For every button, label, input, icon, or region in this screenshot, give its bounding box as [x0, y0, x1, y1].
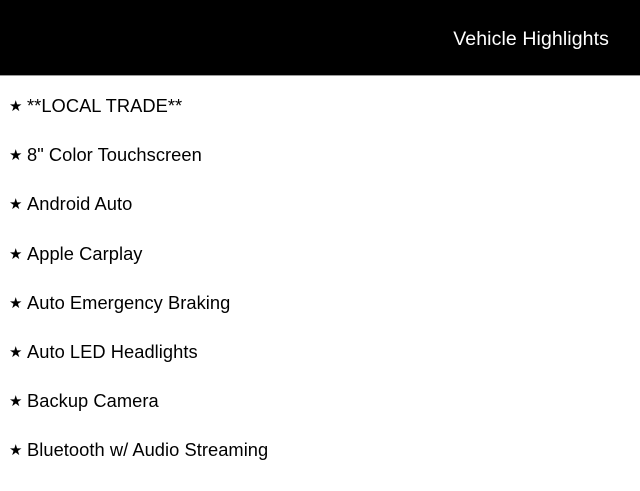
header-banner: Vehicle Highlights [0, 0, 640, 76]
star-icon: ★ [9, 345, 27, 360]
list-item: ★ Bluetooth w/ Audio Streaming [0, 441, 640, 490]
highlight-label: Android Auto [27, 195, 132, 213]
star-icon: ★ [9, 148, 27, 163]
list-item: ★ Apple Carplay [0, 245, 640, 294]
highlight-label: Auto Emergency Braking [27, 294, 230, 312]
list-item: ★ **LOCAL TRADE** [0, 77, 640, 146]
highlight-label: 8" Color Touchscreen [27, 146, 202, 164]
vehicle-highlights-list: ★ **LOCAL TRADE** ★ 8" Color Touchscreen… [0, 77, 640, 491]
list-item: ★ Auto Emergency Braking [0, 294, 640, 343]
page-title: Vehicle Highlights [453, 30, 609, 50]
list-item: ★ Android Auto [0, 195, 640, 244]
star-icon: ★ [9, 394, 27, 409]
highlight-label: **LOCAL TRADE** [27, 97, 182, 115]
highlight-label: Bluetooth w/ Audio Streaming [27, 441, 268, 459]
star-icon: ★ [9, 99, 27, 114]
star-icon: ★ [9, 443, 27, 458]
vehicle-highlights-page: Vehicle Highlights ★ **LOCAL TRADE** ★ 8… [0, 0, 640, 480]
star-icon: ★ [9, 296, 27, 311]
highlight-label: Apple Carplay [27, 245, 142, 263]
list-item: ★ Backup Camera [0, 392, 640, 441]
highlight-label: Backup Camera [27, 392, 159, 410]
list-item: ★ 8" Color Touchscreen [0, 146, 640, 195]
star-icon: ★ [9, 247, 27, 262]
highlight-label: Auto LED Headlights [27, 343, 198, 361]
star-icon: ★ [9, 197, 27, 212]
list-item: ★ Auto LED Headlights [0, 343, 640, 392]
